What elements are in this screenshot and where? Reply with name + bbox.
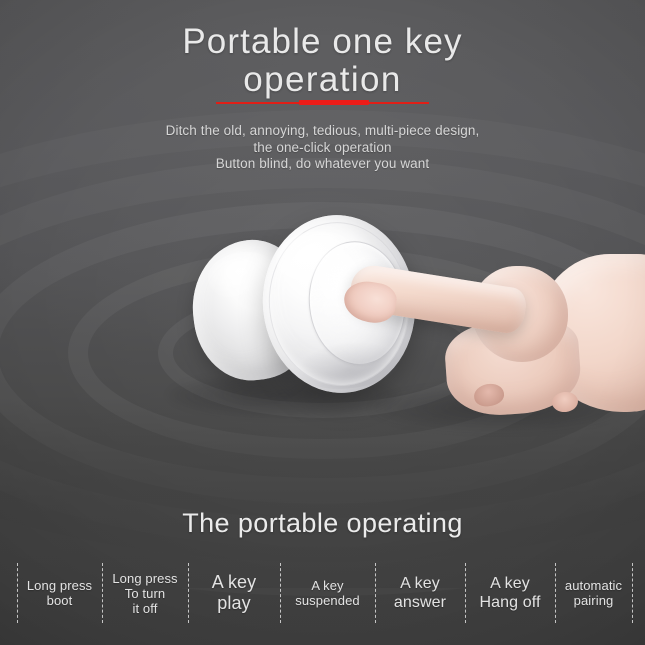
feature-strip: Long pressbootLong pressTo turnit offA k…	[0, 560, 645, 626]
feature-cell[interactable]: A keysuspended	[280, 560, 375, 626]
subtitle-line-3: Button blind, do whatever you want	[0, 156, 645, 173]
feature-label-line: pairing	[565, 593, 622, 608]
feature-cell[interactable]: Long pressboot	[17, 560, 102, 626]
title-underline	[0, 100, 645, 106]
feature-cell[interactable]: automaticpairing	[555, 560, 632, 626]
feature-label: automaticpairing	[565, 578, 622, 608]
feature-cell[interactable]: A keyplay	[188, 560, 280, 626]
subtitle-block: Ditch the old, annoying, tedious, multi-…	[0, 123, 645, 173]
feature-label-line: A key	[295, 578, 360, 593]
feature-divider	[17, 563, 18, 623]
promo-banner: Portable one key operation Ditch the old…	[0, 0, 645, 645]
feature-label: A keysuspended	[295, 578, 360, 608]
feature-label-line: boot	[27, 593, 92, 608]
feature-label-line: To turn	[112, 586, 177, 601]
section-heading: The portable operating	[0, 508, 645, 539]
feature-cell[interactable]: Long pressTo turnit off	[102, 560, 188, 626]
feature-divider	[188, 563, 189, 623]
feature-label-line: A key	[212, 572, 257, 593]
feature-label-line: Hang off	[480, 593, 541, 612]
feature-label: A keyanswer	[394, 574, 446, 612]
feature-label-line: play	[212, 593, 257, 614]
feature-label-line: Long press	[27, 578, 92, 593]
feature-divider	[102, 563, 103, 623]
page-title: Portable one key operation	[0, 23, 645, 99]
feature-label: A keyHang off	[480, 574, 541, 612]
feature-divider	[375, 563, 376, 623]
feature-divider	[280, 563, 281, 623]
feature-divider	[555, 563, 556, 623]
feature-divider	[632, 563, 633, 623]
feature-label-line: suspended	[295, 593, 360, 608]
feature-label: A keyplay	[212, 572, 257, 614]
feature-label-line: automatic	[565, 578, 622, 593]
page-title-line-1: Portable one key	[0, 23, 645, 61]
subtitle-line-1: Ditch the old, annoying, tedious, multi-…	[0, 123, 645, 140]
feature-cell[interactable]: A keyanswer	[375, 560, 465, 626]
feature-label-line: Long press	[112, 571, 177, 586]
title-underline-accent	[299, 100, 369, 105]
feature-label-line: answer	[394, 593, 446, 612]
feature-label-line: A key	[480, 574, 541, 593]
feature-divider	[465, 563, 466, 623]
feature-label-line: A key	[394, 574, 446, 593]
fingernail-thumb	[551, 391, 579, 414]
feature-label: Long pressboot	[27, 578, 92, 608]
feature-label: Long pressTo turnit off	[112, 571, 177, 616]
hand-pressing-button	[368, 236, 645, 436]
page-title-line-2: operation	[0, 61, 645, 99]
feature-cell[interactable]: A keyHang off	[465, 560, 555, 626]
feature-label-line: it off	[112, 601, 177, 616]
subtitle-line-2: the one-click operation	[0, 140, 645, 157]
